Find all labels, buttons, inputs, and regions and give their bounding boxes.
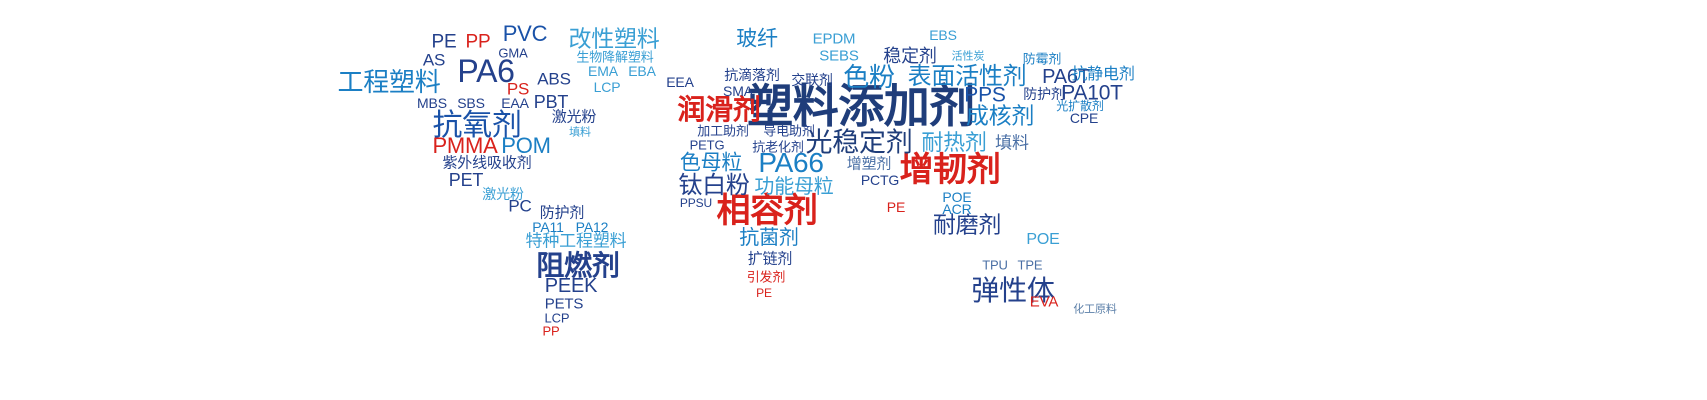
word-cloud-term[interactable]: PEEK [545, 276, 598, 296]
word-cloud-term[interactable]: PETS [545, 297, 584, 312]
word-cloud-term[interactable]: 化工原料 [1073, 305, 1117, 316]
word-cloud-term[interactable]: 生物降解塑料 [576, 51, 653, 64]
word-cloud-term[interactable]: SMA [723, 84, 753, 98]
word-cloud-term[interactable]: 防霉剂 [1023, 53, 1062, 66]
word-cloud-term[interactable]: 稳定剂 [883, 47, 936, 65]
word-cloud-term[interactable]: CPE [1070, 111, 1098, 125]
word-cloud-term[interactable]: 活性炭 [952, 52, 985, 63]
word-cloud-term[interactable]: 增塑剂 [847, 157, 892, 172]
word-cloud-term[interactable]: PP [542, 325, 559, 338]
word-cloud-term[interactable]: TPU [982, 259, 1008, 272]
word-cloud-term[interactable]: 填料 [569, 128, 591, 139]
word-cloud-term[interactable]: 导电助剂 [763, 125, 814, 138]
word-cloud-term[interactable]: PE [887, 200, 905, 214]
word-cloud-term[interactable]: EPDM [813, 32, 856, 47]
word-cloud-term[interactable]: PA11 [532, 220, 564, 234]
word-cloud-term[interactable]: MBS [417, 96, 447, 110]
word-cloud-term[interactable]: 激光粉 [482, 187, 524, 201]
word-cloud-term[interactable]: PVC [503, 23, 548, 45]
word-cloud-term[interactable]: PP [466, 33, 491, 52]
word-cloud-term[interactable]: 加工助剂 [697, 125, 748, 138]
word-cloud-term[interactable]: SBS [457, 96, 485, 110]
word-cloud-term[interactable]: 防护剂 [540, 206, 585, 221]
word-cloud-term[interactable]: 填料 [995, 135, 1029, 152]
word-cloud-term[interactable]: 成核剂 [966, 105, 1034, 128]
word-cloud-term[interactable]: ACR [942, 202, 971, 216]
word-cloud-term[interactable]: 耐热剂 [921, 132, 986, 154]
word-cloud-term[interactable]: 色母粒 [680, 153, 742, 174]
word-cloud-term[interactable]: 改性塑料 [568, 28, 659, 51]
word-cloud-term[interactable]: 特种工程塑料 [526, 233, 627, 250]
word-cloud-term[interactable]: 玻纤 [736, 29, 778, 50]
word-cloud-term[interactable]: PMMA [432, 135, 497, 157]
word-cloud-term[interactable]: POM [501, 135, 550, 157]
word-cloud-term[interactable]: PETG [690, 139, 725, 152]
word-cloud-term[interactable]: GMA [498, 47, 527, 60]
word-cloud-term[interactable]: EBS [929, 28, 957, 42]
word-cloud-term[interactable]: PPSU [680, 197, 712, 209]
word-cloud-term[interactable]: 抗菌剂 [739, 228, 798, 248]
word-cloud-term[interactable]: 引发剂 [747, 271, 786, 284]
word-cloud-term[interactable]: PET [449, 171, 483, 189]
word-cloud-term[interactable]: 钛白粉 [678, 174, 749, 198]
word-cloud-term[interactable]: 色粉 [843, 64, 894, 90]
word-cloud-term[interactable]: EMA [588, 64, 618, 78]
word-cloud-term[interactable]: 抗静电剂 [1071, 67, 1134, 83]
word-cloud-term[interactable]: PCTG [861, 173, 899, 187]
word-cloud-term[interactable]: PE [432, 33, 457, 52]
word-cloud-term[interactable]: 功能母粒 [754, 177, 833, 197]
word-cloud-term[interactable]: 润滑剂 [677, 96, 760, 124]
word-cloud-term[interactable]: PPS [964, 85, 1005, 106]
word-cloud-term[interactable]: POE [1026, 232, 1059, 248]
word-cloud-term[interactable]: 相容剂 [717, 194, 818, 228]
word-cloud-term[interactable]: SEBS [819, 49, 858, 64]
word-cloud-term[interactable]: 抗老化剂 [752, 141, 803, 154]
word-cloud-term[interactable]: EVA [1030, 295, 1058, 310]
word-cloud-term[interactable]: PE [756, 287, 772, 299]
word-cloud-term[interactable]: LCP [594, 80, 621, 94]
word-cloud-term[interactable]: 抗滴落剂 [724, 68, 779, 82]
word-cloud-term[interactable]: 防护剂 [1023, 87, 1065, 101]
word-cloud-term[interactable]: TPE [1018, 259, 1043, 272]
word-cloud-term[interactable]: PBT [534, 93, 568, 111]
word-cloud-term[interactable]: ABS [537, 71, 571, 88]
word-cloud-term[interactable]: 工程塑料 [338, 69, 441, 95]
word-cloud-term[interactable]: 交联剂 [791, 73, 833, 87]
word-cloud-term[interactable]: AS [423, 52, 445, 69]
word-cloud-term[interactable]: EEA [666, 75, 694, 89]
word-cloud-term[interactable]: EBA [628, 64, 656, 78]
word-cloud-term[interactable]: PA12 [576, 220, 609, 234]
word-cloud-term[interactable]: EAA [501, 96, 529, 110]
word-cloud-canvas: 塑料添加剂增韧剂相容剂润滑剂阻燃剂光稳定剂弹性体抗氧剂工程塑料PA6PA66表面… [0, 0, 1707, 400]
word-cloud-term[interactable]: 扩链剂 [748, 252, 793, 267]
word-cloud-term[interactable]: 增韧剂 [900, 153, 1001, 187]
